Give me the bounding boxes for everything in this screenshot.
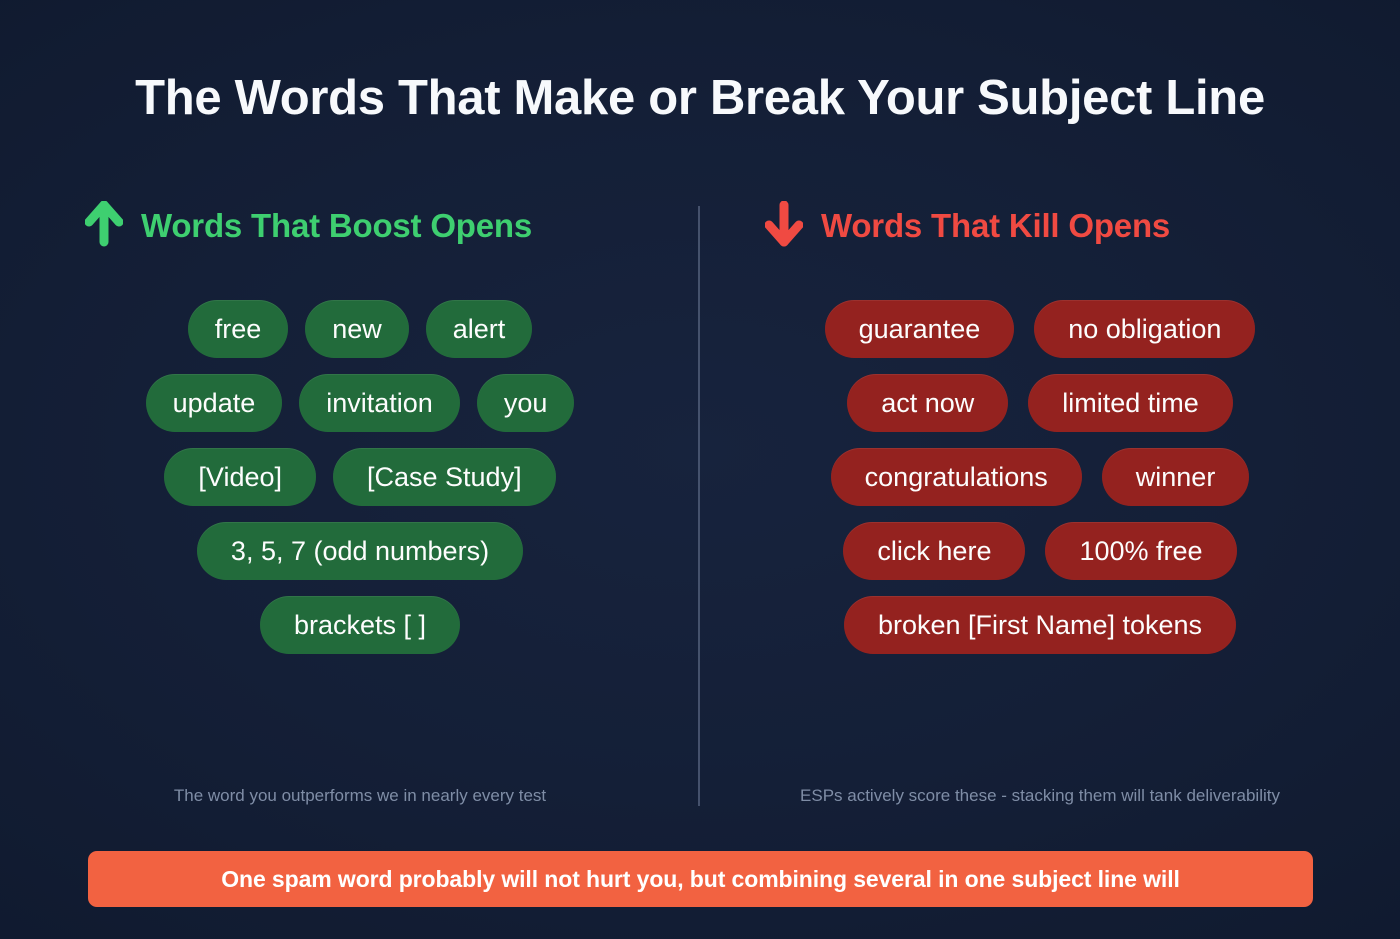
boost-column-header: Words That Boost Opens xyxy=(55,200,665,252)
kill-word-pill[interactable]: congratulations xyxy=(831,448,1082,506)
arrow-up-icon xyxy=(85,201,123,252)
pill-row: update invitation you xyxy=(55,374,665,432)
pill-row: [Video] [Case Study] xyxy=(55,448,665,506)
column-divider xyxy=(698,206,700,806)
boost-word-pill[interactable]: alert xyxy=(426,300,533,358)
boost-word-pill[interactable]: invitation xyxy=(299,374,460,432)
boost-word-pill[interactable]: new xyxy=(305,300,409,358)
kill-word-pill[interactable]: broken [First Name] tokens xyxy=(844,596,1236,654)
kill-pill-grid: guarantee no obligation act now limited … xyxy=(735,300,1345,654)
pill-row: broken [First Name] tokens xyxy=(735,596,1345,654)
boost-pill-grid: free new alert update invitation you [Vi… xyxy=(55,300,665,654)
kill-word-pill[interactable]: 100% free xyxy=(1045,522,1236,580)
boost-word-pill[interactable]: brackets [ ] xyxy=(260,596,460,654)
footer-warning-text: One spam word probably will not hurt you… xyxy=(221,866,1180,893)
boost-word-pill[interactable]: 3, 5, 7 (odd numbers) xyxy=(197,522,523,580)
boost-word-pill[interactable]: update xyxy=(146,374,283,432)
kill-word-pill[interactable]: guarantee xyxy=(825,300,1015,358)
boost-word-pill[interactable]: you xyxy=(477,374,575,432)
pill-row: brackets [ ] xyxy=(55,596,665,654)
kill-word-pill[interactable]: winner xyxy=(1102,448,1250,506)
kill-word-pill[interactable]: click here xyxy=(843,522,1025,580)
boost-column: Words That Boost Opens free new alert up… xyxy=(55,200,665,815)
footer-warning-banner: One spam word probably will not hurt you… xyxy=(88,851,1313,907)
boost-word-pill[interactable]: free xyxy=(188,300,289,358)
boost-column-title: Words That Boost Opens xyxy=(141,207,532,245)
pill-row: guarantee no obligation xyxy=(735,300,1345,358)
kill-column: Words That Kill Opens guarantee no oblig… xyxy=(735,200,1345,815)
pill-row: congratulations winner xyxy=(735,448,1345,506)
kill-column-header: Words That Kill Opens xyxy=(735,200,1345,252)
boost-column-caption: The word you outperforms we in nearly ev… xyxy=(55,786,665,806)
pill-row: click here 100% free xyxy=(735,522,1345,580)
kill-column-caption: ESPs actively score these - stacking the… xyxy=(735,786,1345,806)
kill-word-pill[interactable]: act now xyxy=(847,374,1008,432)
pill-row: act now limited time xyxy=(735,374,1345,432)
page-title: The Words That Make or Break Your Subjec… xyxy=(0,72,1400,126)
kill-word-pill[interactable]: limited time xyxy=(1028,374,1233,432)
pill-row: free new alert xyxy=(55,300,665,358)
pill-row: 3, 5, 7 (odd numbers) xyxy=(55,522,665,580)
kill-column-title: Words That Kill Opens xyxy=(821,207,1170,245)
boost-word-pill[interactable]: [Video] xyxy=(164,448,316,506)
arrow-down-icon xyxy=(765,201,803,252)
kill-word-pill[interactable]: no obligation xyxy=(1034,300,1255,358)
boost-word-pill[interactable]: [Case Study] xyxy=(333,448,556,506)
infographic-page: The Words That Make or Break Your Subjec… xyxy=(0,0,1400,939)
